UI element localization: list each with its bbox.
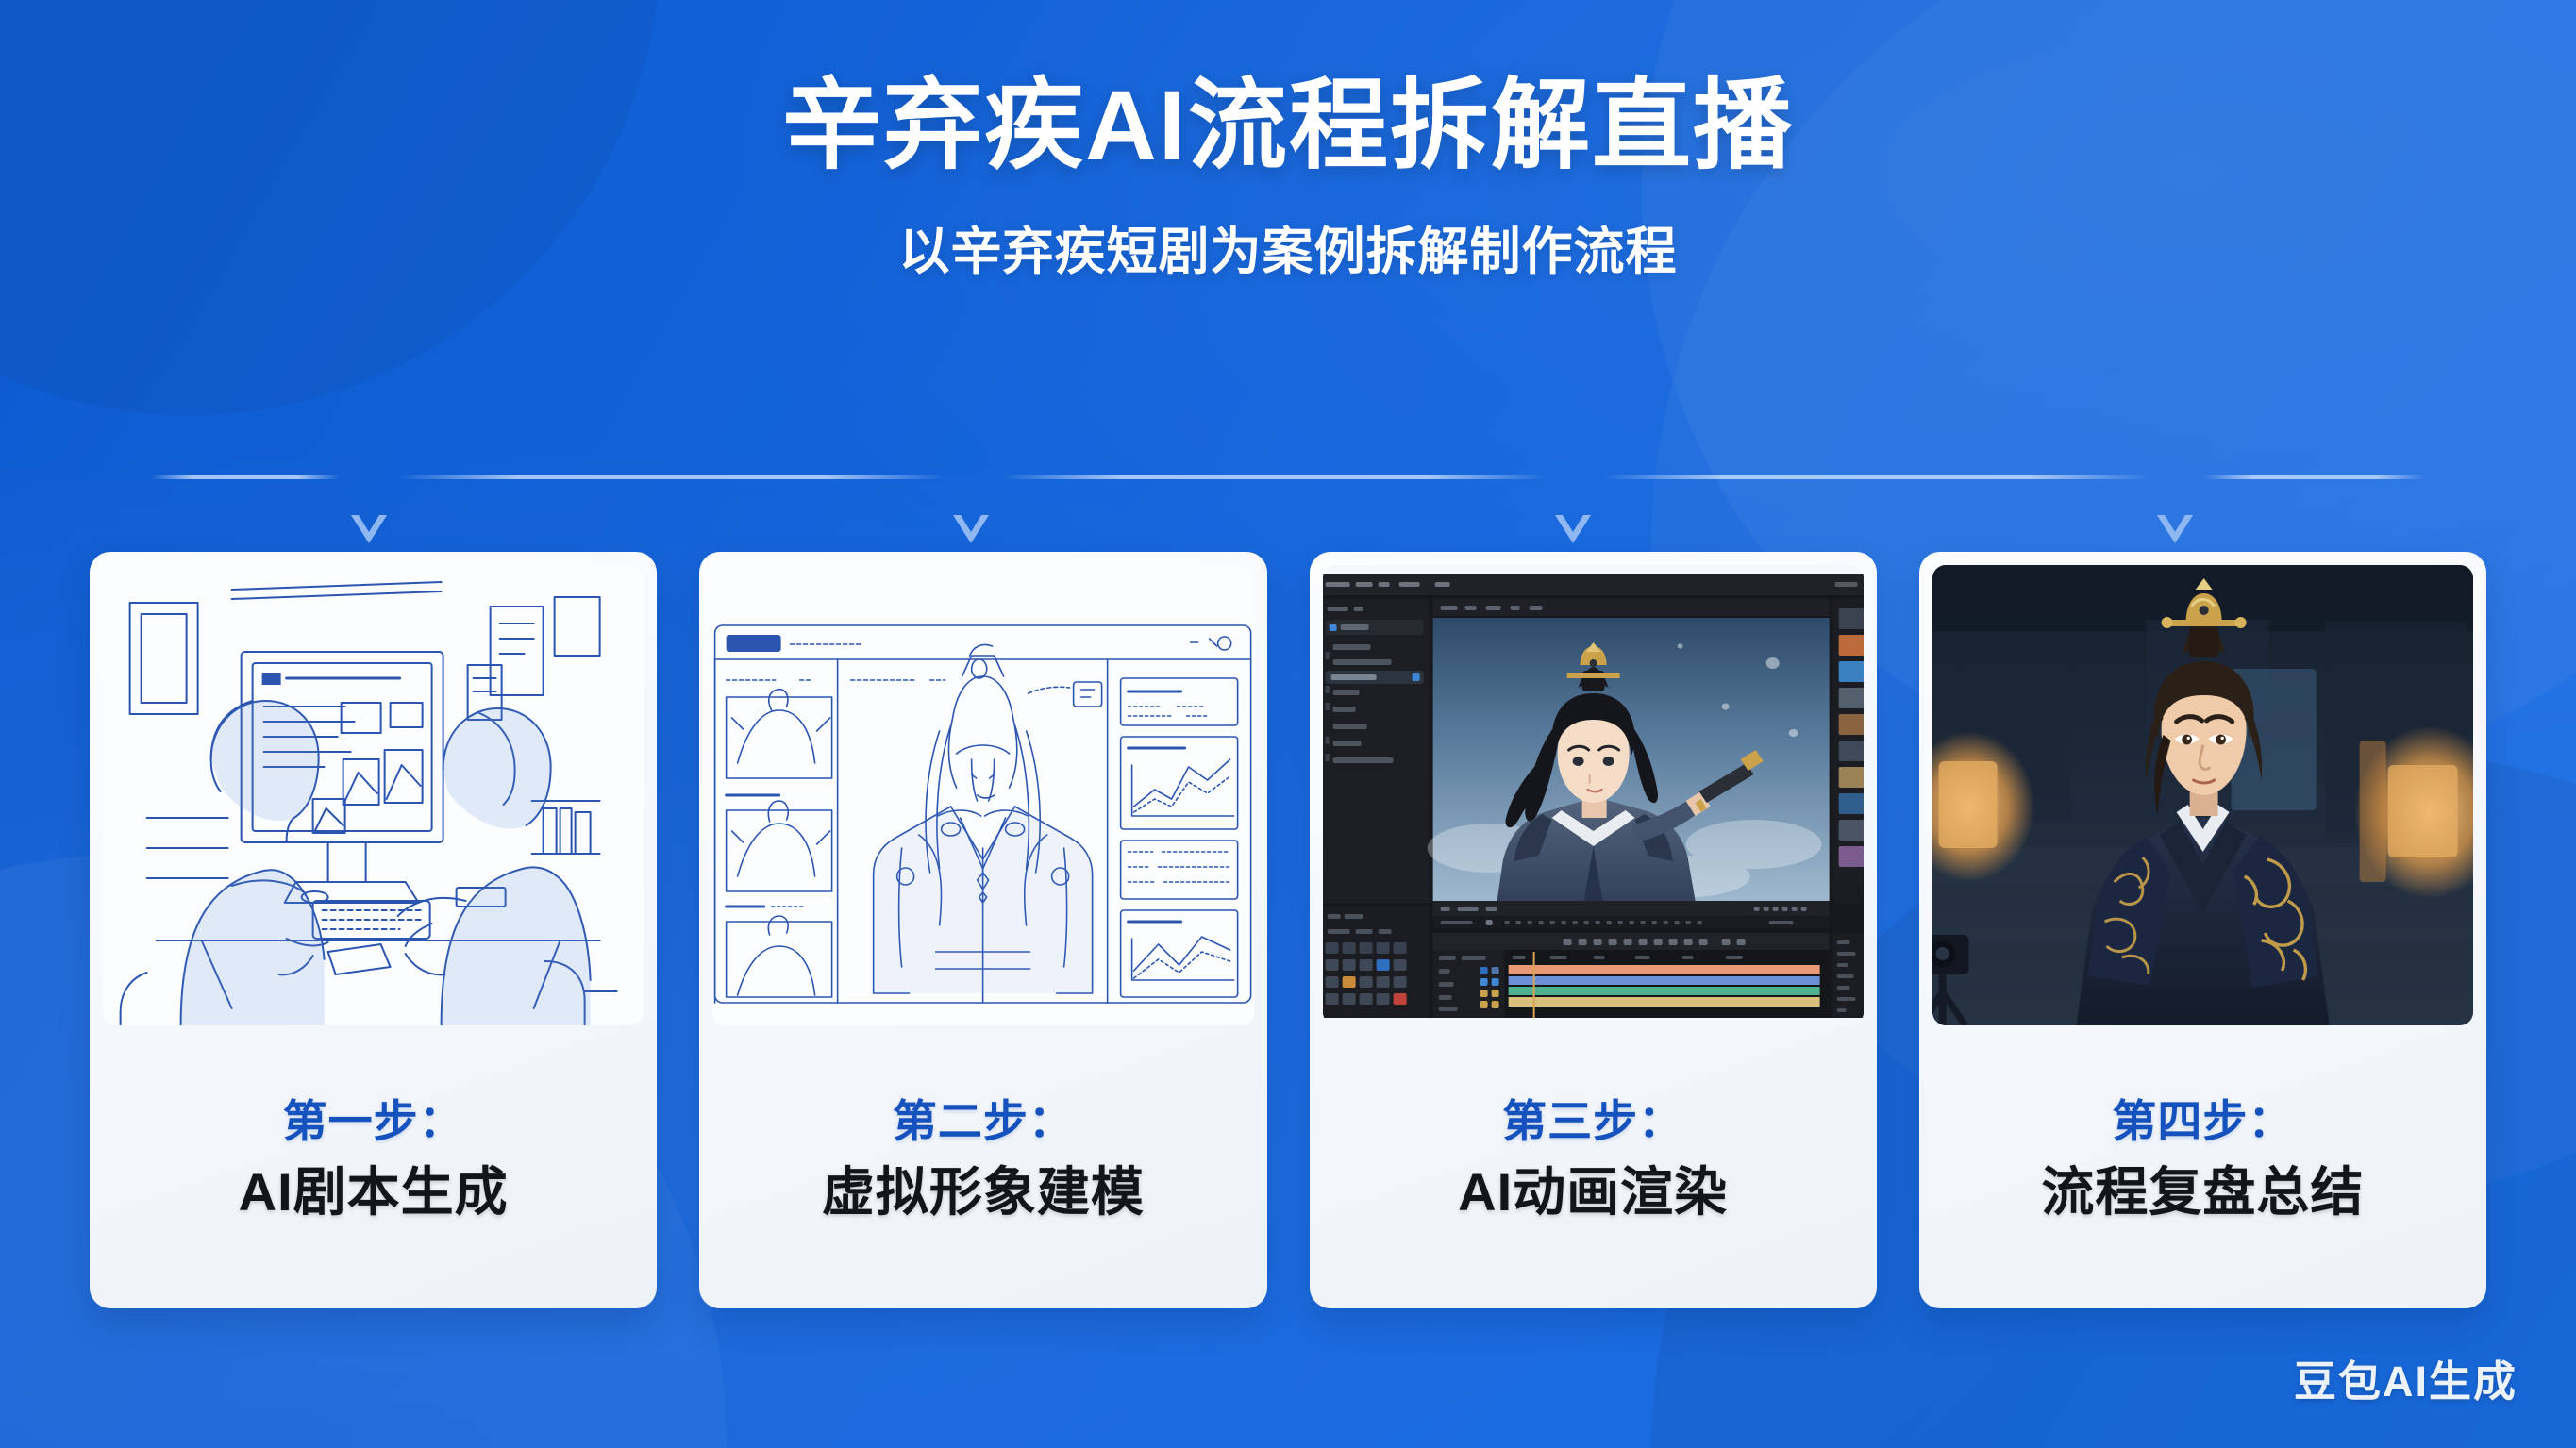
step-card-1-media [103,565,644,1025]
divider-segment-3 [1000,475,1547,479]
divider-segment-4 [1602,475,2149,479]
step-card-1-label: 第一步： [283,1095,464,1148]
step-card-3-label: 第三步： [1502,1095,1683,1148]
divider-segment-1 [151,475,340,479]
step-card-2-name: 虚拟形象建模 [822,1161,1145,1223]
step-card-3-media [1323,565,1864,1025]
watermark: 豆包AI生成 [2294,1347,2517,1408]
chevron-down-icon [1551,506,1595,549]
step-card-2-label: 第二步： [893,1095,1074,1148]
step-card-1[interactable]: 第一步： AI剧本生成 [90,552,657,1308]
step-card-2[interactable]: 第二步： 虚拟形象建模 [699,552,1266,1308]
step-card-4-media [1932,565,2473,1025]
step-card-3-body: 第三步： AI动画渲染 [1310,1025,1877,1308]
step-card-3-name: AI动画渲染 [1458,1161,1728,1223]
chevron-down-icon [347,506,391,549]
step-card-2-media [712,565,1253,1025]
divider-segment-2 [398,475,945,479]
step-card-4[interactable]: 第四步： 流程复盘总结 [1919,552,2486,1308]
step-card-4-body: 第四步： 流程复盘总结 [1919,1025,2486,1308]
step-card-list: 第一步： AI剧本生成 [90,552,2486,1308]
step-card-1-name: AI剧本生成 [239,1161,509,1223]
step-connector [151,470,2425,541]
step-card-3[interactable]: 第三步： AI动画渲染 [1310,552,1877,1308]
step-card-4-name: 流程复盘总结 [2041,1161,2364,1223]
divider-segment-5 [2204,475,2425,479]
page-title: 辛弃疾AI流程拆解直播 [0,68,2576,185]
step-card-2-body: 第二步： 虚拟形象建模 [699,1025,1266,1308]
header: 辛弃疾AI流程拆解直播 以辛弃疾短剧为案例拆解制作流程 [0,68,2576,284]
step-card-1-body: 第一步： AI剧本生成 [90,1025,657,1308]
chevron-down-icon [949,506,993,549]
chevron-down-icon [2153,506,2197,549]
step-card-4-label: 第四步： [2112,1095,2293,1148]
page-subtitle: 以辛弃疾短剧为案例拆解制作流程 [0,209,2576,284]
